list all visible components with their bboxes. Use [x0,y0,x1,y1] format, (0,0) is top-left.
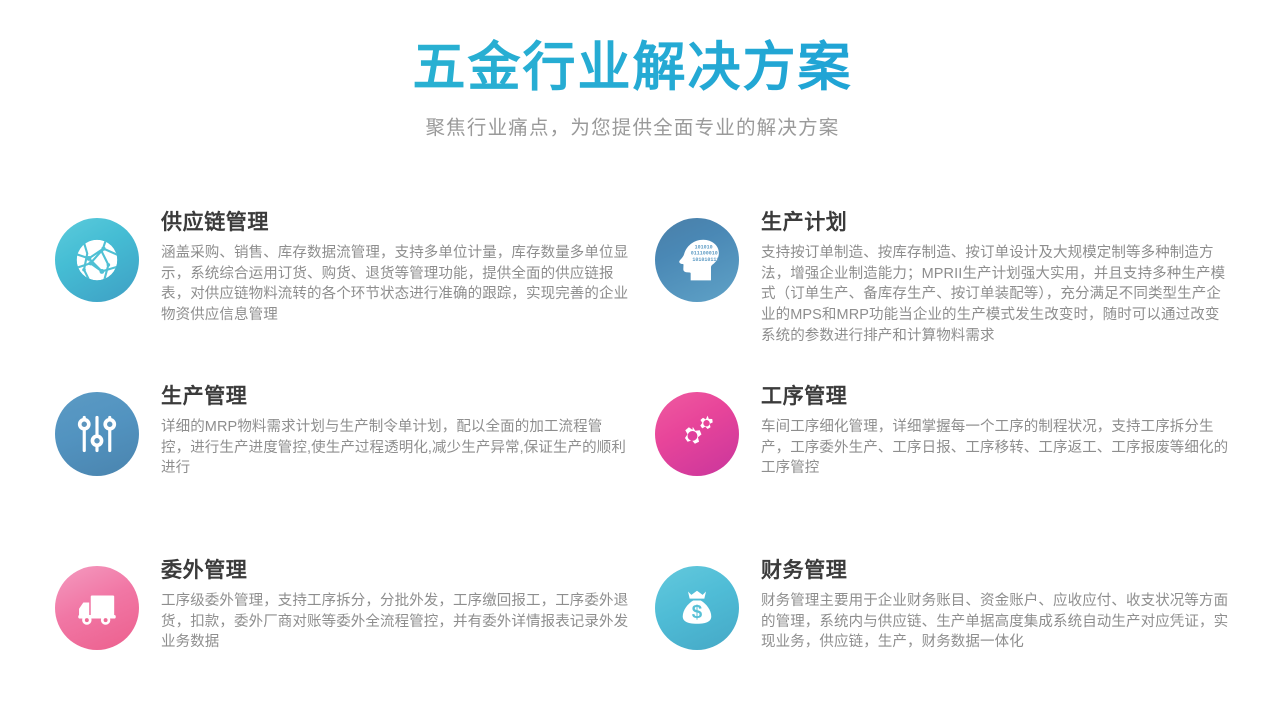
feature-card-description: 涵盖采购、销售、库存数据流管理，支持多单位计量，库存数量多单位显示，系统综合运用… [161,243,631,325]
feature-card-body: 生产计划 支持按订单制造、按库存制造、按订单设计及大规模定制等多种制造方法，增强… [739,196,1231,346]
svg-text:011100010: 011100010 [691,251,718,257]
feature-card-body: 工序管理 车间工序细化管理，详细掌握每一个工序的制程状况，支持工序拆分生产，工序… [739,370,1231,479]
sliders-icon [55,392,139,476]
feature-card-body: 财务管理 财务管理主要用于企业财务账目、资金账户、应收应付、收支状况等方面的管理… [739,544,1231,653]
slide-root: 五金行业解决方案 聚焦行业痛点，为您提供全面专业的解决方案 [0,0,1265,710]
feature-card-body: 供应链管理 涵盖采购、销售、库存数据流管理，支持多单位计量，库存数量多单位显示，… [139,196,631,326]
brain-head-binary-icon: 101010 011100010 101010111 [655,218,739,302]
feature-card-grid: 供应链管理 涵盖采购、销售、库存数据流管理，支持多单位计量，库存数量多单位显示，… [0,196,1265,718]
svg-text:$: $ [692,601,703,622]
feature-card-description: 工序级委外管理，支持工序拆分，分批外发，工序缴回报工，工序委外退货，扣款，委外厂… [161,591,631,653]
feature-card-supply-chain[interactable]: 供应链管理 涵盖采购、销售、库存数据流管理，支持多单位计量，库存数量多单位显示，… [55,196,655,370]
feature-card-description: 支持按订单制造、按库存制造、按订单设计及大规模定制等多种制造方法，增强企业制造能… [761,243,1231,346]
feature-card-finance[interactable]: $ 财务管理 财务管理主要用于企业财务账目、资金账户、应收应付、收支状况等方面的… [655,544,1255,718]
feature-card-description: 财务管理主要用于企业财务账目、资金账户、应收应付、收支状况等方面的管理，系统内与… [761,591,1231,653]
feature-card-body: 生产管理 详细的MRP物料需求计划与生产制令单计划，配以全面的加工流程管控，进行… [139,370,631,479]
money-bag-icon: $ [655,566,739,650]
feature-card-title: 供应链管理 [161,210,631,235]
truck-icon [55,566,139,650]
network-globe-icon [55,218,139,302]
feature-card-body: 委外管理 工序级委外管理，支持工序拆分，分批外发，工序缴回报工，工序委外退货，扣… [139,544,631,653]
feature-card-process-management[interactable]: 工序管理 车间工序细化管理，详细掌握每一个工序的制程状况，支持工序拆分生产，工序… [655,370,1255,544]
feature-card-outsourcing[interactable]: 委外管理 工序级委外管理，支持工序拆分，分批外发，工序缴回报工，工序委外退货，扣… [55,544,655,718]
gears-icon [655,392,739,476]
feature-card-title: 生产计划 [761,210,1231,235]
feature-card-description: 详细的MRP物料需求计划与生产制令单计划，配以全面的加工流程管控，进行生产进度管… [161,417,631,479]
page-subtitle: 聚焦行业痛点，为您提供全面专业的解决方案 [0,111,1265,140]
svg-text:101010111: 101010111 [692,257,719,263]
feature-card-description: 车间工序细化管理，详细掌握每一个工序的制程状况，支持工序拆分生产，工序委外生产、… [761,417,1231,479]
feature-card-title: 财务管理 [761,558,1231,583]
svg-text:101010: 101010 [695,244,713,250]
slide-header: 五金行业解决方案 聚焦行业痛点，为您提供全面专业的解决方案 [0,0,1265,140]
feature-card-production-plan[interactable]: 101010 011100010 101010111 生产计划 支持按订单制造、… [655,196,1255,370]
feature-card-title: 工序管理 [761,384,1231,409]
feature-card-title: 生产管理 [161,384,631,409]
feature-card-title: 委外管理 [161,558,631,583]
page-title: 五金行业解决方案 [0,38,1265,97]
feature-card-production-management[interactable]: 生产管理 详细的MRP物料需求计划与生产制令单计划，配以全面的加工流程管控，进行… [55,370,655,544]
